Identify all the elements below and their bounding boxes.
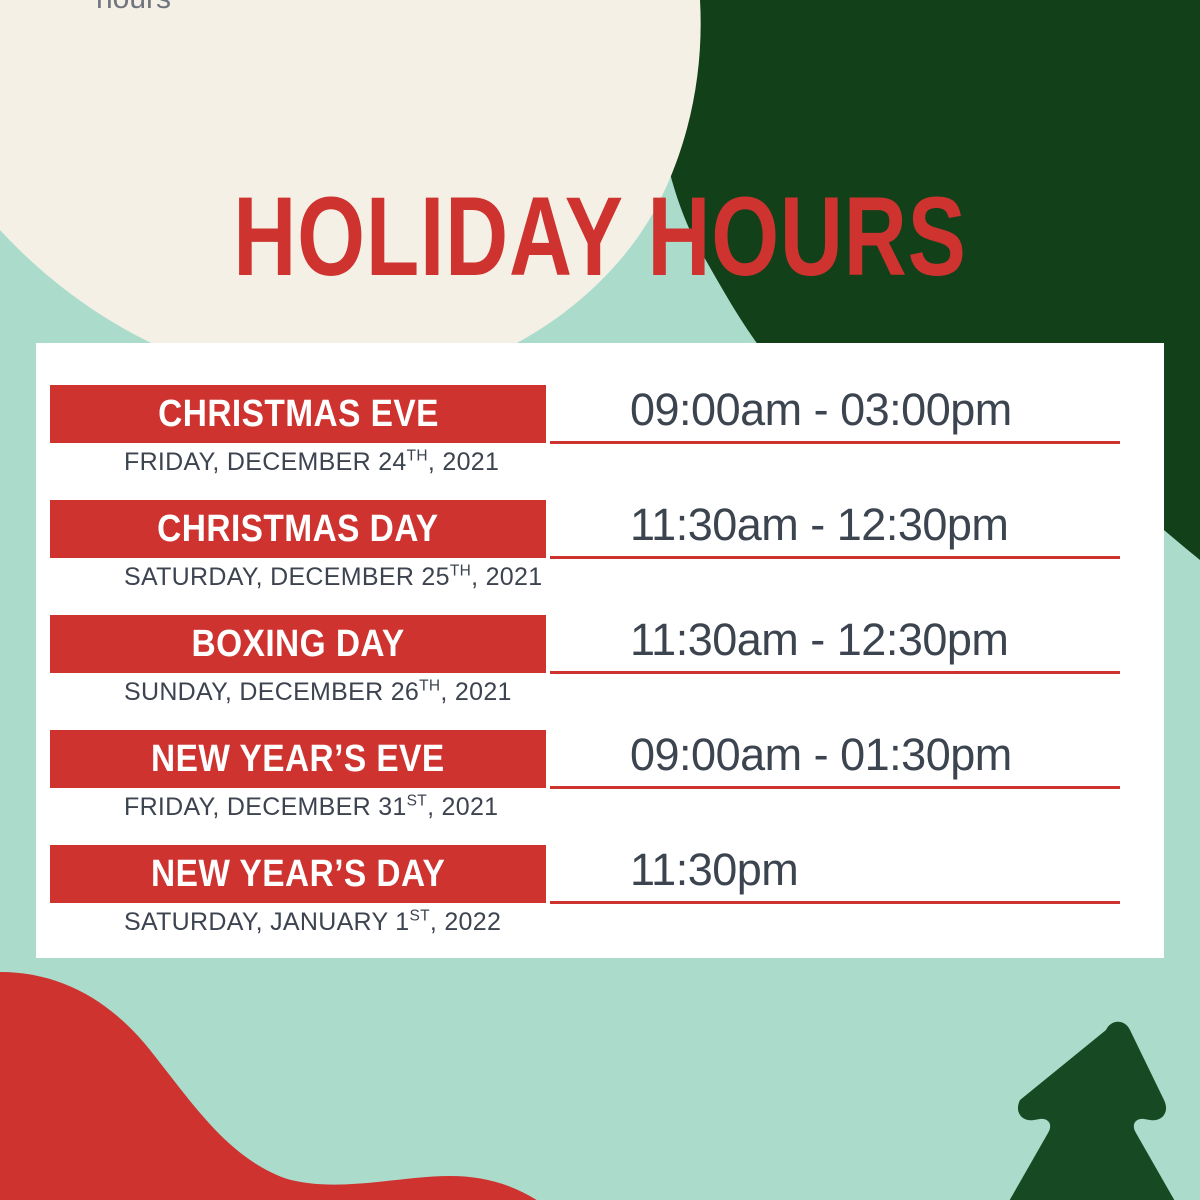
row-underline — [550, 671, 1120, 674]
row-underline — [550, 786, 1120, 789]
date-ordinal-suffix: ST — [409, 908, 429, 925]
schedule-rows: CHRISTMAS EVE09:00am - 03:00pmFRIDAY, DE… — [36, 343, 1164, 918]
holiday-hours-text: 09:00am - 01:30pm — [630, 726, 1130, 784]
schedule-card: CHRISTMAS EVE09:00am - 03:00pmFRIDAY, DE… — [36, 343, 1164, 958]
holiday-name-label: CHRISTMAS DAY — [157, 509, 438, 549]
row-underline — [550, 556, 1120, 559]
date-year: , 2022 — [430, 908, 501, 936]
schedule-row: NEW YEAR’S EVE09:00am - 01:30pmFRIDAY, D… — [36, 688, 1164, 803]
holiday-hours-text: 11:30am - 12:30pm — [630, 611, 1130, 669]
schedule-row: CHRISTMAS DAY11:30am - 12:30pmSATURDAY, … — [36, 458, 1164, 573]
holiday-date-text: SATURDAY, JANUARY 1ST, 2022 — [124, 907, 501, 937]
schedule-row: NEW YEAR’S DAY11:30pmSATURDAY, JANUARY 1… — [36, 803, 1164, 918]
holiday-hours-text: 11:30am - 12:30pm — [630, 496, 1130, 554]
holiday-name-bar: CHRISTMAS EVE — [50, 385, 546, 443]
holiday-name-bar: NEW YEAR’S DAY — [50, 845, 546, 903]
holiday-name-bar: CHRISTMAS DAY — [50, 500, 546, 558]
row-underline — [550, 901, 1120, 904]
holiday-name-bar: NEW YEAR’S EVE — [50, 730, 546, 788]
row-underline — [550, 441, 1120, 444]
top-clipped-text: hours — [96, 0, 171, 16]
holiday-name-label: NEW YEAR’S DAY — [151, 854, 445, 894]
page-title: HOLIDAY HOURS — [132, 178, 1068, 296]
schedule-row: BOXING DAY11:30am - 12:30pmSUNDAY, DECEM… — [36, 573, 1164, 688]
holiday-name-bar: BOXING DAY — [50, 615, 546, 673]
holiday-name-label: NEW YEAR’S EVE — [151, 739, 445, 779]
holiday-hours-text: 11:30pm — [630, 841, 1130, 899]
holiday-hours-text: 09:00am - 03:00pm — [630, 381, 1130, 439]
holiday-hours-poster: hours HOLIDAY HOURS CHRISTMAS EVE09:00am… — [0, 0, 1200, 1200]
holiday-name-label: CHRISTMAS EVE — [158, 394, 439, 434]
date-main: SATURDAY, JANUARY 1 — [124, 908, 409, 936]
schedule-row: CHRISTMAS EVE09:00am - 03:00pmFRIDAY, DE… — [36, 343, 1164, 458]
holiday-name-label: BOXING DAY — [191, 624, 404, 664]
